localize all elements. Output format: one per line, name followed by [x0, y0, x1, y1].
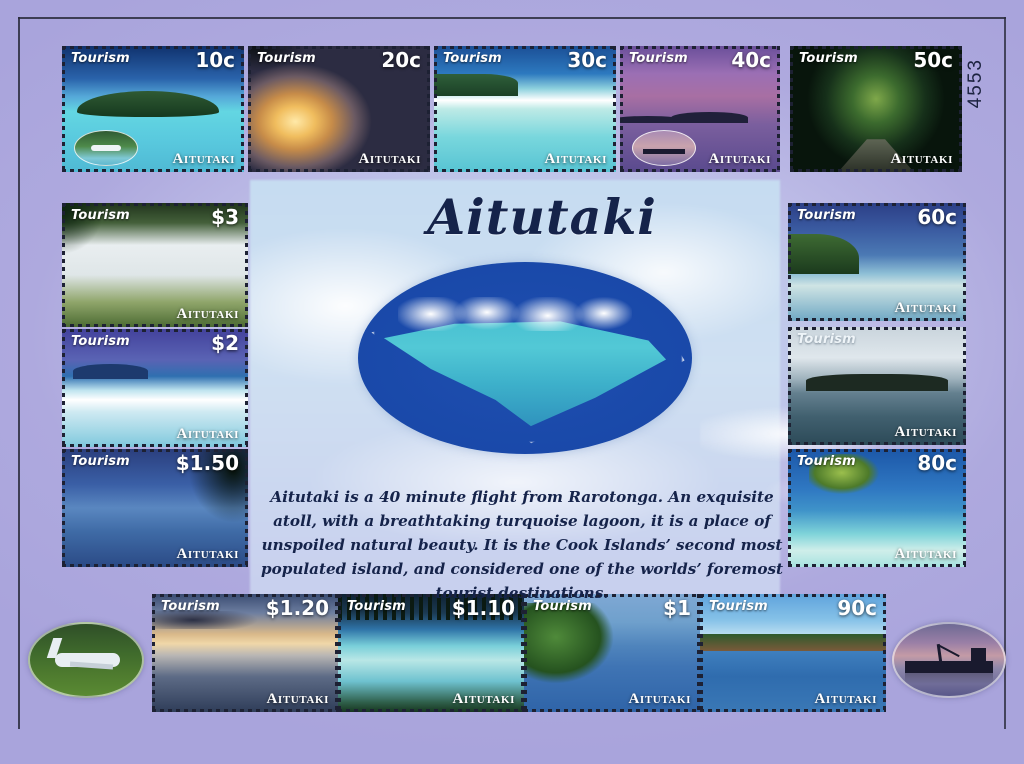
stamp-80c[interactable]: Tourism 80c Aitutaki: [788, 449, 966, 567]
sheet-description: Aitutaki is a 40 minute flight from Raro…: [258, 485, 786, 605]
aerial-atoll-photo: [358, 262, 692, 454]
atoll-clouds: [398, 297, 632, 332]
stamp-2-dollar[interactable]: Tourism $2 Aitutaki: [62, 329, 248, 447]
stamp-60c[interactable]: Tourism 60c Aitutaki: [788, 203, 966, 321]
series-label: Tourism: [71, 334, 130, 349]
sheet-frame-top: [18, 17, 1006, 19]
series-label: Tourism: [71, 454, 130, 469]
denomination-label: $3: [211, 205, 239, 229]
denomination-label: $1.50: [176, 451, 239, 475]
series-label: Tourism: [799, 51, 858, 66]
stamp-1-10-dollar[interactable]: Tourism $1.10 Aitutaki: [338, 594, 524, 712]
country-label: Aitutaki: [815, 691, 878, 708]
country-label: Aitutaki: [453, 691, 516, 708]
stamp-50c[interactable]: Tourism 50c Aitutaki: [790, 46, 962, 172]
country-label: Aitutaki: [177, 426, 240, 443]
denomination-label: 60c: [917, 205, 957, 229]
country-label: Aitutaki: [545, 151, 608, 168]
country-label: Aitutaki: [267, 691, 330, 708]
denomination-label: $2: [211, 331, 239, 355]
stamp-sheet: Tourism 10c Aitutaki Tourism 20c Aitutak…: [0, 0, 1024, 764]
series-label: Tourism: [71, 208, 130, 223]
boat-on-lagoon-oval-icon: [74, 130, 138, 166]
stamp-30c[interactable]: Tourism 30c Aitutaki: [434, 46, 616, 172]
airplane-oval: [28, 622, 144, 698]
country-label: Aitutaki: [895, 300, 958, 317]
stamp-90c[interactable]: Tourism 90c Aitutaki: [700, 594, 886, 712]
sheet-number: 4553: [965, 58, 991, 108]
denomination-label: 90c: [837, 596, 877, 620]
denomination-label: 10c: [195, 48, 235, 72]
denomination-label: 20c: [381, 48, 421, 72]
denomination-label: 80c: [917, 451, 957, 475]
country-label: Aitutaki: [173, 151, 236, 168]
denomination-label: 40c: [731, 48, 771, 72]
denomination-label: 30c: [567, 48, 607, 72]
stamp-40c[interactable]: Tourism 40c Aitutaki: [620, 46, 780, 172]
series-label: Tourism: [797, 454, 856, 469]
country-label: Aitutaki: [895, 546, 958, 563]
ship-reflection: [905, 673, 993, 685]
sheet-frame-left: [18, 17, 20, 729]
country-label: Aitutaki: [177, 306, 240, 323]
stamp-3-dollar[interactable]: Tourism $3 Aitutaki: [62, 203, 248, 327]
stamp-70c[interactable]: Tourism Aitutaki: [788, 327, 966, 445]
ship-at-dusk-oval-icon: [632, 130, 696, 166]
series-label: Tourism: [161, 599, 220, 614]
country-label: Aitutaki: [177, 546, 240, 563]
country-label: Aitutaki: [709, 151, 772, 168]
country-label: Aitutaki: [629, 691, 692, 708]
country-label: Aitutaki: [891, 151, 954, 168]
series-label: Tourism: [629, 51, 688, 66]
stamp-10c[interactable]: Tourism 10c Aitutaki: [62, 46, 244, 172]
series-label: Tourism: [797, 332, 856, 347]
series-label: Tourism: [257, 51, 316, 66]
stamp-1-dollar[interactable]: Tourism $1 Aitutaki: [524, 594, 700, 712]
page-title: Aitutaki: [392, 188, 692, 246]
stamp-1-50-dollar[interactable]: Tourism $1.50 Aitutaki: [62, 449, 248, 567]
country-label: Aitutaki: [895, 424, 958, 441]
sheet-frame-right: [1004, 17, 1006, 729]
series-label: Tourism: [443, 51, 502, 66]
series-label: Tourism: [797, 208, 856, 223]
denomination-label: 50c: [913, 48, 953, 72]
country-label: Aitutaki: [359, 151, 422, 168]
stamp-1-20-dollar[interactable]: Tourism $1.20 Aitutaki: [152, 594, 338, 712]
cargo-ship-oval: [892, 622, 1006, 698]
series-label: Tourism: [71, 51, 130, 66]
ship-hull-icon: [905, 661, 993, 673]
stamp-20c[interactable]: Tourism 20c Aitutaki: [248, 46, 430, 172]
